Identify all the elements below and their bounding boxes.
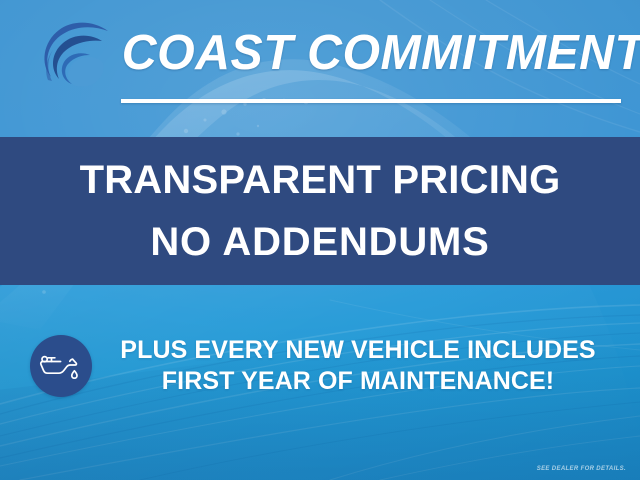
promo-text-block: PLUS EVERY NEW VEHICLE INCLUDES FIRST YE…	[92, 335, 640, 397]
pricing-headline-primary: TRANSPARENT PRICING	[80, 149, 561, 211]
maintenance-promo-row: PLUS EVERY NEW VEHICLE INCLUDES FIRST YE…	[0, 326, 640, 406]
coast-wave-swirl-logo-icon	[30, 19, 114, 91]
page-title: COAST COMMITMENT	[122, 23, 622, 83]
coast-commitment-banner: COAST COMMITMENT TRANSPARENT PRICING NO …	[0, 0, 640, 480]
pricing-band: TRANSPARENT PRICING NO ADDENDUMS	[0, 137, 640, 285]
pricing-headline-secondary: NO ADDENDUMS	[150, 211, 489, 273]
promo-line-secondary: FIRST YEAR OF MAINTENANCE!	[98, 366, 618, 397]
oil-can-icon	[30, 335, 92, 397]
header-divider	[121, 99, 621, 103]
disclaimer-text: SEE DEALER FOR DETAILS.	[537, 466, 626, 472]
banner-header: COAST COMMITMENT	[0, 0, 640, 137]
promo-line-primary: PLUS EVERY NEW VEHICLE INCLUDES	[98, 335, 618, 366]
